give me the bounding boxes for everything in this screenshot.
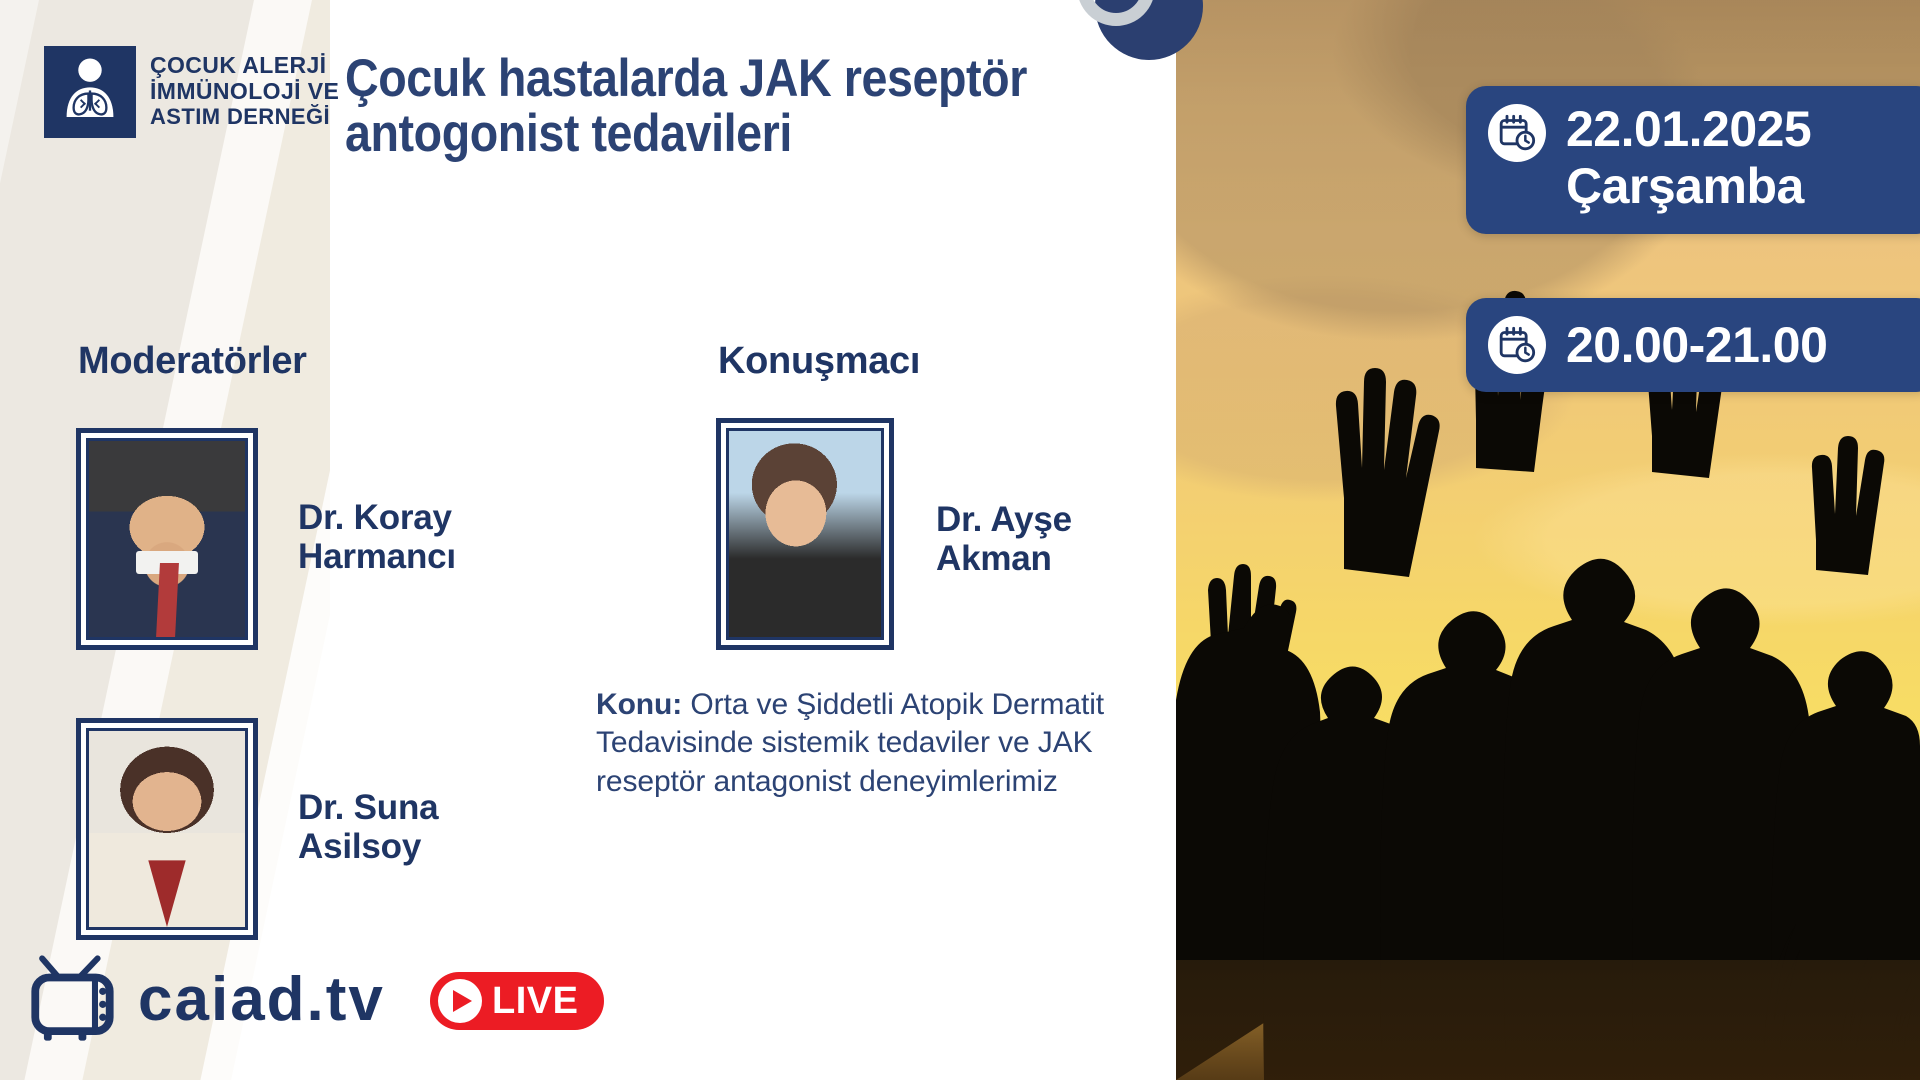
- speaker-name: Dr. Ayşe Akman: [936, 500, 1072, 578]
- moderators-heading: Moderatörler: [78, 340, 307, 383]
- avatar: [89, 441, 245, 637]
- moderator-name-line-1: Dr. Suna: [298, 788, 438, 827]
- moderator-photo-frame: [76, 428, 258, 650]
- speaker-name-line-2: Akman: [936, 539, 1072, 578]
- topic-label: Konu:: [596, 688, 682, 721]
- title-line-2: antogonist tedavileri: [345, 107, 1058, 162]
- live-badge[interactable]: LIVE: [430, 972, 604, 1030]
- calendar-clock-icon: [1488, 316, 1546, 374]
- photo-inner-border: [86, 438, 248, 640]
- event-time: 20.00-21.00: [1566, 320, 1827, 371]
- photo-inner-border: [86, 728, 248, 930]
- topic-description: Konu: Orta ve Şiddetli Atopik Dermatit T…: [596, 686, 1176, 801]
- logo-line-1: ÇOCUK ALERJİ: [150, 54, 339, 77]
- left-content-panel: ÇOCUK ALERJİ İMMÜNOLOJİ VE ASTIM DERNEĞİ…: [0, 0, 1176, 1080]
- play-icon: [438, 979, 482, 1023]
- date-badge-text: 22.01.2025 Çarşamba: [1566, 104, 1811, 212]
- time-badge-text: 20.00-21.00: [1566, 320, 1827, 371]
- calendar-clock-icon: [1488, 104, 1546, 162]
- moderator-name-line-2: Harmancı: [298, 537, 456, 576]
- speaker-photo-frame: [716, 418, 894, 650]
- tv-icon: [30, 955, 134, 1045]
- photo-inner-border: [726, 428, 884, 640]
- moderator-name: Dr. Koray Harmancı: [298, 498, 456, 576]
- title-line-1: Çocuk hastalarda JAK reseptör: [345, 52, 1058, 107]
- moderator-photo-frame: [76, 718, 258, 940]
- moderator-name: Dr. Suna Asilsoy: [298, 788, 438, 866]
- moderator-name-line-2: Asilsoy: [298, 827, 438, 866]
- logo-line-3: ASTIM DERNEĞİ: [150, 106, 339, 128]
- poster-title: Çocuk hastalarda JAK reseptör antogonist…: [345, 52, 1058, 161]
- webinar-poster: ÇOCUK ALERJİ İMMÜNOLOJİ VE ASTIM DERNEĞİ…: [0, 0, 1920, 1080]
- brand-logo[interactable]: caiad.tv: [30, 955, 385, 1045]
- avatar: [89, 731, 245, 927]
- speaker-heading: Konuşmacı: [718, 340, 920, 383]
- lungs-person-icon: [44, 46, 136, 138]
- time-badge: 20.00-21.00: [1466, 298, 1920, 392]
- event-date: 22.01.2025: [1566, 104, 1811, 155]
- event-weekday: Çarşamba: [1566, 161, 1811, 212]
- foreground-ground: [1176, 960, 1920, 1080]
- speaker-name-line-1: Dr. Ayşe: [936, 500, 1072, 539]
- date-badge: 22.01.2025 Çarşamba: [1466, 86, 1920, 234]
- live-label: LIVE: [492, 980, 578, 1023]
- logo-line-2: İMMÜNOLOJİ VE: [150, 80, 339, 103]
- organization-logo: ÇOCUK ALERJİ İMMÜNOLOJİ VE ASTIM DERNEĞİ: [44, 46, 339, 138]
- brand-name: caiad.tv: [138, 969, 385, 1031]
- organization-logo-text: ÇOCUK ALERJİ İMMÜNOLOJİ VE ASTIM DERNEĞİ: [150, 54, 339, 131]
- moderator-name-line-1: Dr. Koray: [298, 498, 456, 537]
- avatar: [729, 431, 881, 637]
